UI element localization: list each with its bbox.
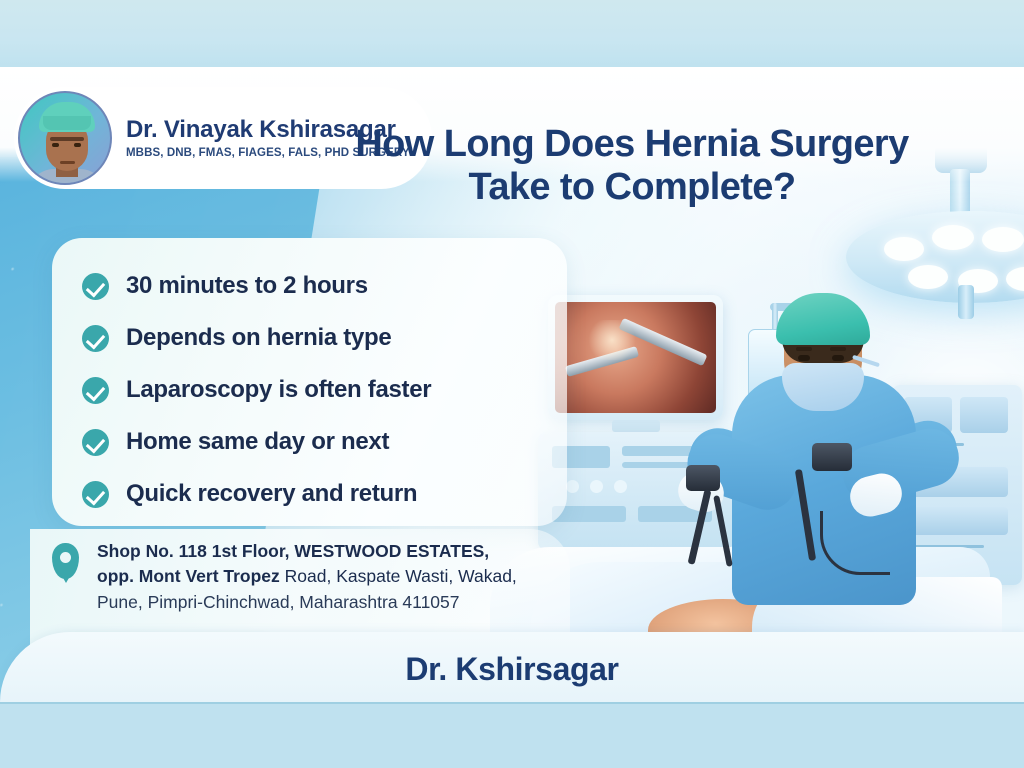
list-item-label: 30 minutes to 2 hours	[126, 272, 368, 300]
letterbox-band-top	[0, 0, 1024, 67]
laparoscopic-tool-handle-right	[812, 443, 852, 471]
list-item: Laparoscopy is often faster	[82, 368, 567, 412]
list-item: Quick recovery and return	[82, 472, 567, 516]
address-landmark: opp. Mont Vert Tropez	[97, 566, 280, 586]
address: Shop No. 118 1st Floor, WESTWOOD ESTATES…	[97, 539, 567, 615]
check-circle-icon	[82, 273, 109, 300]
monitor-stand	[612, 420, 660, 432]
map-pin-icon	[52, 543, 79, 579]
letterbox-band-bottom	[0, 702, 1024, 768]
list-item-label: Laparoscopy is often faster	[126, 376, 431, 404]
surgeon-eye-left	[798, 355, 810, 361]
doctor-avatar	[18, 91, 112, 185]
address-line-1: Shop No. 118 1st Floor, WESTWOOD ESTATES…	[97, 539, 567, 564]
endoscopy-monitor	[548, 295, 723, 420]
check-circle-icon	[82, 325, 109, 352]
address-line-3: Pune, Pimpri-Chinchwad, Maharashtra 4110…	[97, 590, 567, 615]
list-item: 30 minutes to 2 hours	[82, 264, 567, 308]
list-item-label: Quick recovery and return	[126, 480, 417, 508]
list-item-label: Depends on hernia type	[126, 324, 391, 352]
key-points-card: 30 minutes to 2 hours Depends on hernia …	[52, 238, 567, 526]
check-circle-icon	[82, 377, 109, 404]
surgical-lamp-neck	[958, 285, 974, 319]
poster-header: Dr. Vinayak Kshirasagar MBBS, DNB, FMAS,…	[0, 67, 1024, 182]
footer-brand: Dr. Kshirsagar	[0, 651, 1024, 688]
surgeon-brow-right	[830, 347, 846, 351]
surgeon-eye-right	[832, 355, 844, 361]
laparoscopic-tool-handle-left	[686, 465, 720, 491]
poster-canvas: Dr. Vinayak Kshirasagar MBBS, DNB, FMAS,…	[0, 0, 1024, 768]
list-item: Home same day or next	[82, 420, 567, 464]
address-line-2: opp. Mont Vert Tropez Road, Kaspate Wast…	[97, 564, 567, 589]
poster-content: Dr. Vinayak Kshirasagar MBBS, DNB, FMAS,…	[0, 67, 1024, 702]
list-item: Depends on hernia type	[82, 316, 567, 360]
address-line-2-rest: Road, Kaspate Wasti, Wakad,	[280, 566, 517, 586]
page-title: How Long Does Hernia Surgery Take to Com…	[352, 123, 912, 209]
list-item-label: Home same day or next	[126, 428, 389, 456]
surgeon-brow-left	[796, 347, 812, 351]
check-circle-icon	[82, 481, 109, 508]
endoscopy-view	[555, 302, 716, 413]
check-circle-icon	[82, 429, 109, 456]
